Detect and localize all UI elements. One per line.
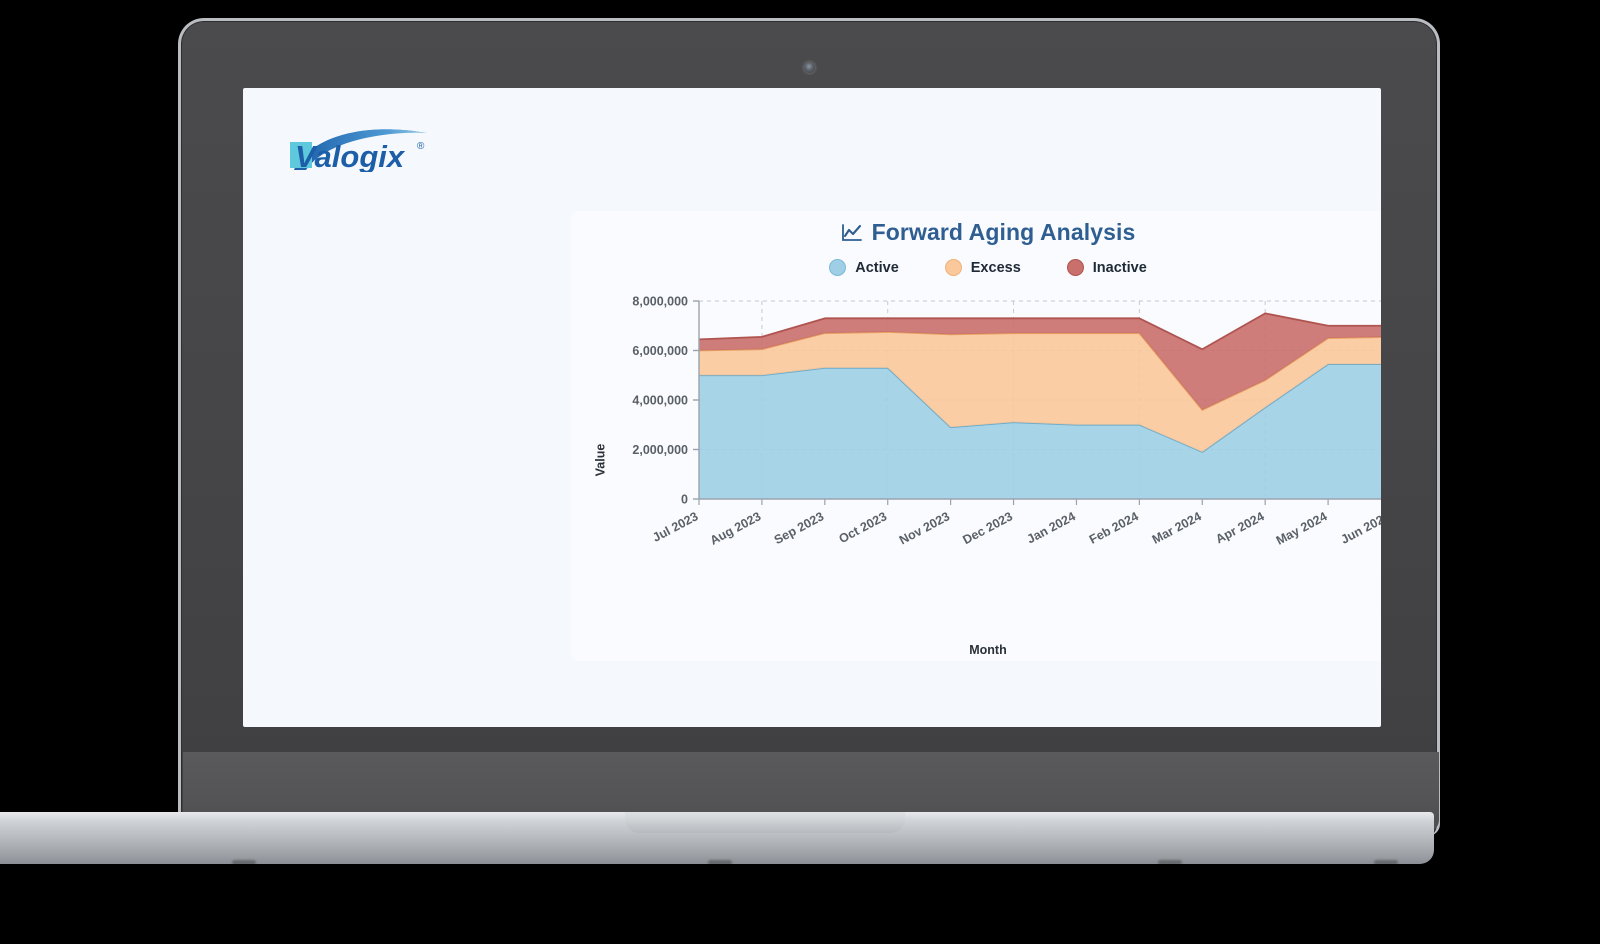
stacked-area-chart[interactable]: 02,000,0004,000,0006,000,0008,000,000Jul… (571, 291, 1381, 661)
chart-plot-area[interactable]: 02,000,0004,000,0006,000,0008,000,000Jul… (571, 291, 1381, 661)
svg-text:Valogix: Valogix (295, 139, 406, 172)
legend-swatch-excess (945, 259, 962, 276)
legend-label-inactive: Inactive (1093, 260, 1147, 276)
page-title: Forward Aging Analysis (872, 219, 1136, 246)
svg-text:0: 0 (681, 493, 688, 507)
svg-text:Nov 2023: Nov 2023 (897, 509, 952, 547)
base-foot-midleft (708, 860, 732, 865)
legend-swatch-active (829, 259, 846, 276)
svg-text:May 2024: May 2024 (1274, 509, 1330, 547)
svg-text:Aug 2023: Aug 2023 (708, 509, 764, 547)
base-foot-right (1374, 860, 1398, 865)
svg-text:Jan 2024: Jan 2024 (1025, 509, 1078, 546)
line-chart-icon (841, 223, 863, 243)
legend-item-active[interactable]: Active (829, 259, 899, 276)
laptop-screen-bezel: Valogix ® (243, 88, 1381, 727)
chart-title-row: Forward Aging Analysis (571, 219, 1381, 246)
valogix-logo-icon: Valogix ® (287, 122, 439, 172)
svg-text:6,000,000: 6,000,000 (632, 344, 688, 358)
legend-item-excess[interactable]: Excess (945, 259, 1021, 276)
svg-text:Feb 2024: Feb 2024 (1087, 509, 1141, 547)
svg-text:Dec 2023: Dec 2023 (961, 509, 1015, 547)
webcam-icon (804, 62, 815, 73)
laptop-mockup: Valogix ® (178, 18, 1440, 838)
svg-text:Jul 2023: Jul 2023 (650, 509, 700, 545)
laptop-lid: Valogix ® (178, 18, 1440, 836)
y-axis-title: Value (593, 444, 607, 477)
svg-text:Mar 2024: Mar 2024 (1150, 509, 1204, 547)
x-axis-title: Month (571, 643, 1381, 657)
svg-text:Oct 2023: Oct 2023 (837, 509, 890, 546)
svg-text:Sep 2023: Sep 2023 (772, 509, 826, 547)
svg-text:Jun 2024: Jun 2024 (1339, 509, 1381, 547)
svg-text:2,000,000: 2,000,000 (632, 443, 688, 457)
chart-card: Forward Aging Analysis Active Excess (571, 211, 1381, 661)
svg-text:Apr 2024: Apr 2024 (1213, 509, 1266, 546)
svg-text:4,000,000: 4,000,000 (632, 394, 688, 408)
page-root: Valogix ® (0, 0, 1600, 944)
base-foot-left (232, 860, 256, 865)
svg-text:®: ® (417, 141, 425, 152)
legend-label-active: Active (855, 260, 899, 276)
svg-text:8,000,000: 8,000,000 (632, 295, 688, 309)
base-foot-midright (1158, 860, 1182, 865)
laptop-base-notch (625, 812, 905, 833)
legend-swatch-inactive (1067, 259, 1084, 276)
app-screen: Valogix ® (243, 88, 1381, 727)
legend-label-excess: Excess (971, 260, 1021, 276)
chart-legend: Active Excess Inactive (571, 259, 1381, 276)
legend-item-inactive[interactable]: Inactive (1067, 259, 1147, 276)
